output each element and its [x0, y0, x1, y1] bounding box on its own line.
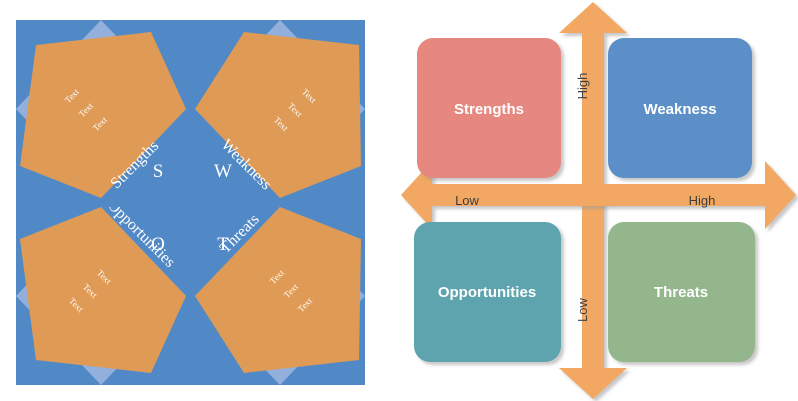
matrix-cell-weakness[interactable]: Weakness	[608, 38, 752, 178]
matrix-label-strengths: Strengths	[454, 101, 524, 118]
axis-label-horizontal-high: High	[689, 193, 716, 208]
matrix-cell-strengths[interactable]: Strengths	[417, 38, 561, 178]
matrix-cell-opportunities[interactable]: Opportunities	[414, 222, 561, 362]
pinwheel-letter-s: S	[153, 161, 164, 182]
diagram-canvas: Strengths Text Text Text S Weakness Text…	[0, 0, 798, 401]
axis-label-vertical-low: Low	[575, 297, 590, 321]
pinwheel-letter-t: T	[217, 234, 229, 255]
pinwheel-divider-horizontal	[16, 198, 365, 207]
pinwheel-letter-w: W	[214, 161, 232, 182]
matrix-label-opportunities: Opportunities	[438, 284, 536, 301]
swot-matrix-diagram: High Low Low High Strengths Weakness Opp…	[399, 0, 798, 401]
matrix-label-weakness: Weakness	[643, 101, 716, 118]
matrix-cell-threats[interactable]: Threats	[608, 222, 755, 362]
swot-pinwheel-diagram: Strengths Text Text Text S Weakness Text…	[16, 20, 365, 385]
pinwheel-letter-o: O	[151, 234, 165, 255]
axis-label-vertical-high: High	[575, 73, 590, 100]
matrix-label-threats: Threats	[654, 284, 708, 301]
axis-label-horizontal-low: Low	[455, 193, 479, 208]
